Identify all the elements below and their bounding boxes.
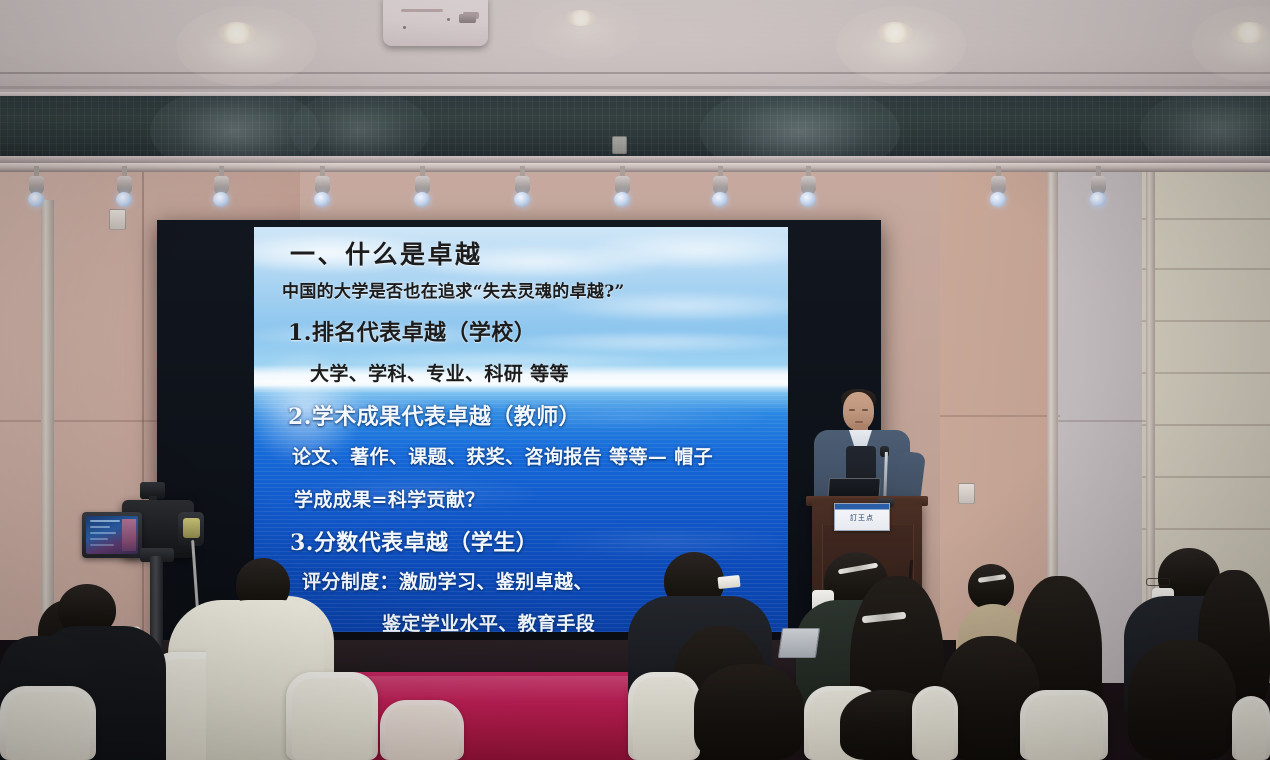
chair: [1232, 696, 1270, 760]
chair: [1020, 690, 1108, 760]
slide-point-3-detail-1: 评分制度：激励学习、鉴别卓越、: [302, 567, 593, 594]
phone-screen: [717, 575, 740, 589]
chair: [628, 672, 700, 760]
wall-socket: [109, 209, 126, 230]
wall-seam: [142, 170, 144, 682]
wall-seam: [1142, 372, 1270, 374]
downlight: [218, 22, 256, 44]
wall-seam: [1142, 424, 1270, 426]
podium-nameplate: 訂王点: [834, 503, 890, 531]
wall-seam: [1142, 476, 1270, 478]
wall-seam: [940, 415, 1060, 417]
ceiling-seam: [0, 86, 1270, 89]
spotlight-bulb: [990, 192, 1006, 207]
audience-hair: [694, 664, 804, 760]
wall-seam: [1142, 268, 1270, 270]
camera-lcd-preview[interactable]: [86, 516, 138, 554]
slide-title: 一、什么是卓越: [290, 235, 483, 271]
track-light-rail: [0, 163, 1270, 172]
glasses: [1146, 578, 1170, 586]
downlight-glow: [176, 6, 316, 86]
wall-seam: [1142, 320, 1270, 322]
slide-point-3-heading: 3.分数代表卓越（学生）: [290, 525, 538, 557]
acoustic-band: [0, 96, 1270, 158]
slide-point-1-detail-1: 大学、学科、专业、科研 等等: [310, 359, 569, 386]
spotlight-bulb: [414, 192, 430, 207]
wall-metal-strip: [41, 200, 54, 620]
chair: [0, 686, 96, 760]
projector-lens: [459, 14, 476, 23]
downlight-glow: [530, 0, 640, 60]
slide-subtitle: 中国的大学是否也在追求“失去灵魂的卓越?”: [282, 277, 625, 302]
downlight: [877, 22, 913, 43]
spotlight-bulb: [28, 192, 44, 207]
audience-hair: [1128, 640, 1236, 760]
band-edge-bottom: [0, 156, 1270, 163]
audience-laptop: [778, 628, 820, 658]
downlight: [1231, 22, 1267, 43]
spotlight-bulb: [514, 192, 530, 207]
chair: [286, 672, 378, 760]
downlight-glow: [836, 6, 966, 84]
wall-seam: [1058, 420, 1148, 422]
slide-point-3-detail-2: 鉴定学业水平、教育手段: [382, 609, 595, 632]
slide-point-2-detail-2: 学成成果=科学贡献？: [294, 485, 485, 512]
podium-nameplate-text: 訂王点: [835, 513, 889, 523]
spotlight-bulb: [116, 192, 132, 207]
lecture-hall-photo: 一、什么是卓越 中国的大学是否也在追求“失去灵魂的卓越?” 1.排名代表卓越（学…: [0, 0, 1270, 760]
spotlight-bulb: [1090, 192, 1106, 207]
ceiling-projector: [383, 0, 488, 46]
chair: [380, 700, 464, 760]
chair: [912, 686, 958, 760]
wall-metal-strip: [1047, 168, 1058, 638]
wall-socket: [612, 136, 627, 154]
spotlight-bulb: [614, 192, 630, 207]
wall-seam: [1142, 218, 1270, 220]
slide-point-1-heading: 1.排名代表卓越（学校）: [288, 315, 536, 347]
slide-point-2-detail-1: 论文、著作、课题、获奖、咨询报告 等等— 帽子: [292, 442, 713, 469]
spotlight-bulb: [800, 192, 816, 207]
spotlight-bulb: [712, 192, 728, 207]
slide-point-2-heading: 2.学术成果代表卓越（教师）: [288, 399, 581, 431]
wall-metal-strip: [1146, 168, 1155, 638]
wall-seam: [0, 420, 160, 422]
downlight: [566, 10, 596, 26]
ceiling-seam: [0, 72, 1270, 74]
spotlight-bulb: [314, 192, 330, 207]
wall-seam: [1142, 528, 1270, 530]
video-camera-lens-glass: [183, 518, 200, 538]
wall-socket: [958, 483, 975, 504]
spotlight-bulb: [213, 192, 229, 207]
